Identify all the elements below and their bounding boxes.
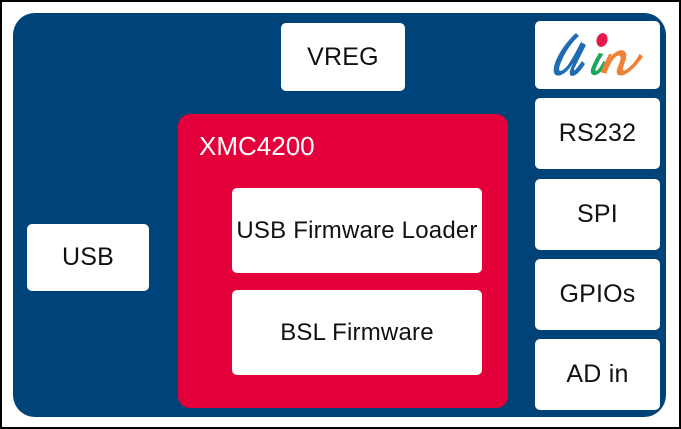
bsl-firmware-label: BSL Firmware xyxy=(280,319,434,347)
ad-in-label: AD in xyxy=(566,360,628,389)
bsl-firmware-block[interactable]: BSL Firmware xyxy=(232,290,482,375)
block-diagram: USB VREG XMC4200 USB Firmware Loader BSL… xyxy=(0,0,681,429)
xmc4200-label: XMC4200 xyxy=(199,131,315,162)
rs232-label: RS232 xyxy=(559,119,636,148)
lin-logo-icon xyxy=(546,27,650,83)
usb-firmware-loader-block[interactable]: USB Firmware Loader xyxy=(232,188,482,273)
ad-in-block[interactable]: AD in xyxy=(535,339,660,410)
vreg-block[interactable]: VREG xyxy=(281,23,405,91)
lin-logo-block[interactable] xyxy=(535,21,660,89)
vreg-label: VREG xyxy=(307,43,379,72)
gpios-block[interactable]: GPIOs xyxy=(535,259,660,330)
rs232-block[interactable]: RS232 xyxy=(535,98,660,169)
usb-firmware-loader-label: USB Firmware Loader xyxy=(236,217,477,245)
gpios-label: GPIOs xyxy=(559,280,635,309)
spi-label: SPI xyxy=(577,200,618,229)
usb-port-block[interactable]: USB xyxy=(27,224,149,291)
spi-block[interactable]: SPI xyxy=(535,179,660,250)
usb-port-label: USB xyxy=(62,243,114,272)
